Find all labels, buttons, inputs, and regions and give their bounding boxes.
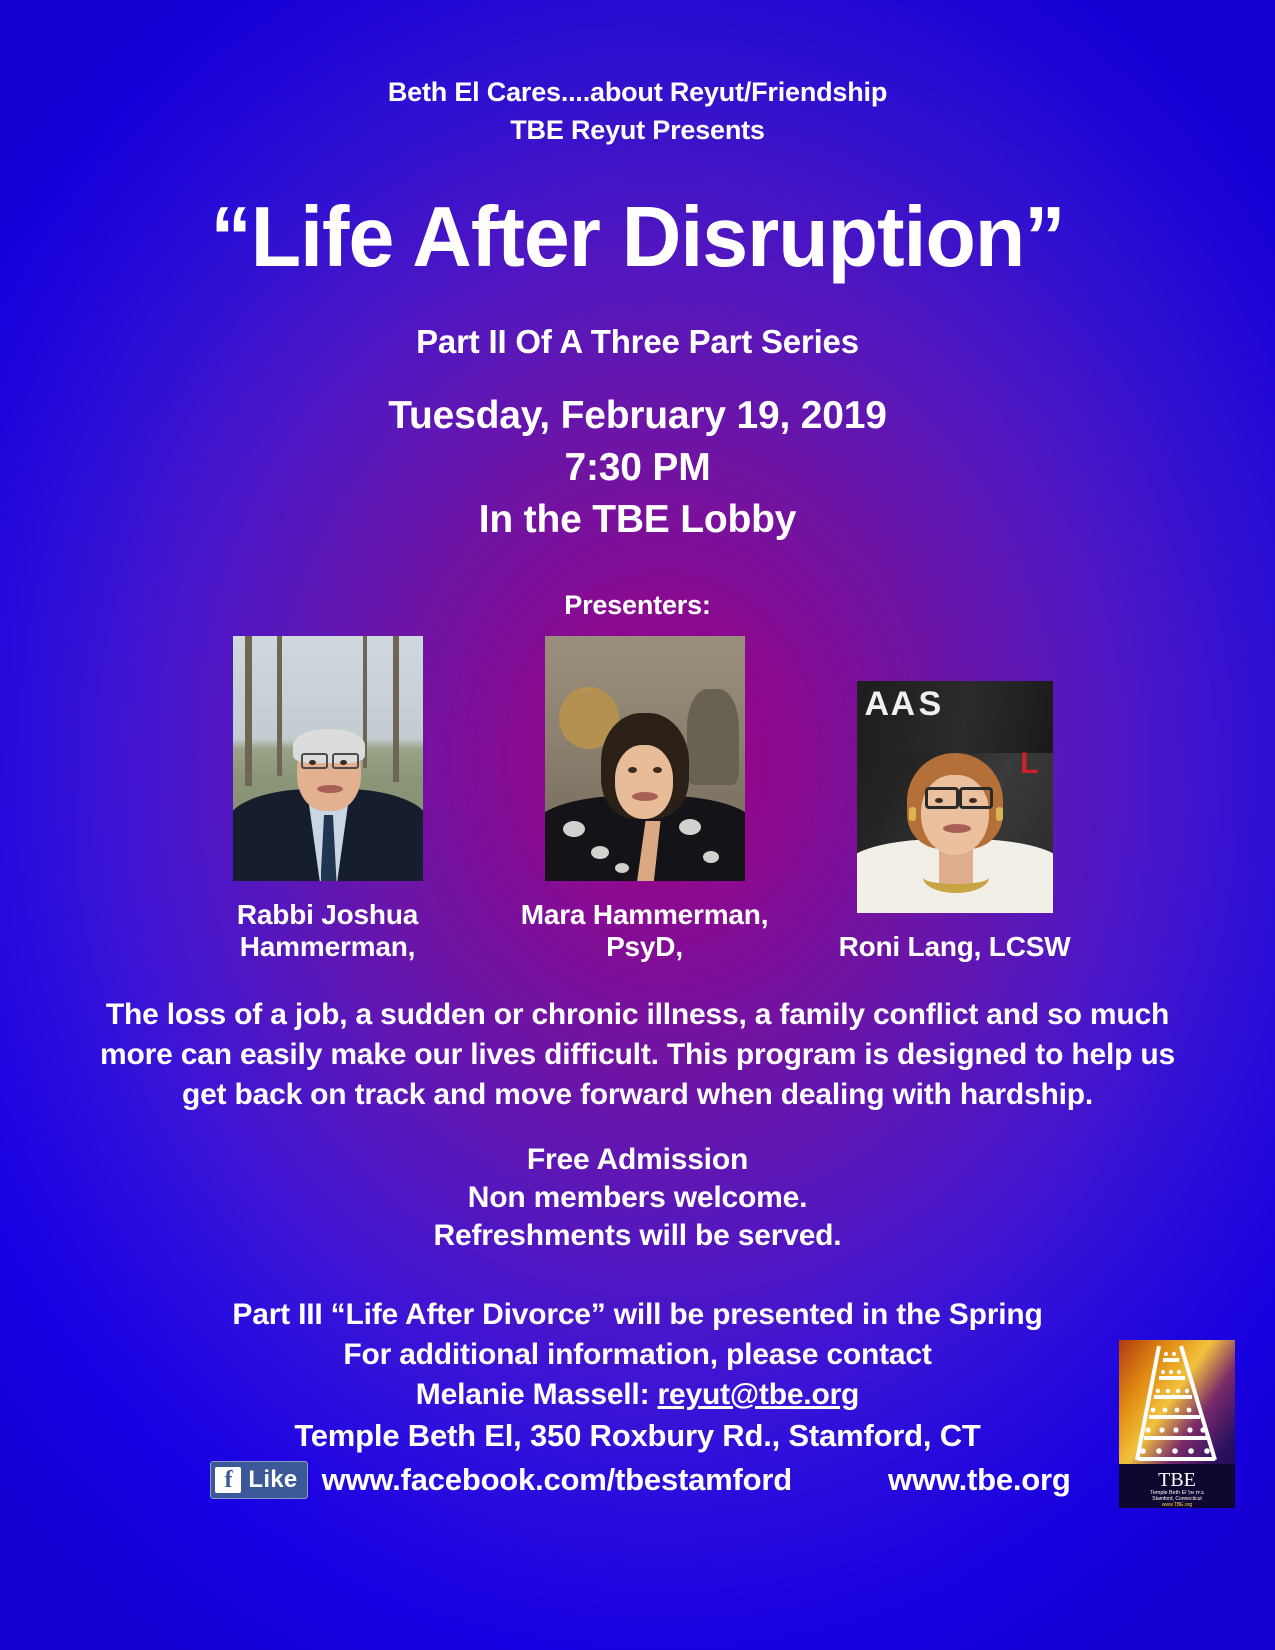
flyer-footer: Temple Beth El, 350 Roxbury Rd., Stamfor…	[0, 1416, 1275, 1500]
event-date: Tuesday, February 19, 2019	[0, 390, 1275, 442]
presenter-name-3: Roni Lang, LCSW	[839, 931, 1071, 963]
description-line-2: more can easily make our lives difficult…	[93, 1035, 1183, 1075]
description-line-1: The loss of a job, a sudden or chronic i…	[93, 995, 1183, 1035]
facebook-url[interactable]: www.facebook.com/tbestamford	[322, 1460, 792, 1500]
roni-lang-photo: A A S L	[857, 681, 1053, 913]
presenter-cell-2: Mara Hammerman, PsyD,	[480, 636, 810, 963]
presenter-cell-1: Rabbi Joshua Hammerman,	[176, 636, 480, 963]
presenter-name-1: Rabbi Joshua Hammerman,	[176, 899, 480, 963]
presenter-cell-3: A A S L Roni Lang, LC	[810, 681, 1100, 963]
tbe-logo-sub-1: Temple Beth El בית אל	[1150, 1489, 1204, 1496]
presenter-name-2: Mara Hammerman, PsyD,	[480, 899, 810, 963]
mara-hammerman-photo	[545, 636, 745, 881]
admission-block: Free Admission Non members welcome. Refr…	[0, 1141, 1275, 1255]
next-part-line-1: Part III “Life After Divorce” will be pr…	[0, 1295, 1275, 1335]
tbe-logo: TBE Temple Beth El בית אל Stamford, Conn…	[1119, 1340, 1235, 1508]
admission-non-members: Non members welcome.	[0, 1179, 1275, 1217]
next-part-block: Part III “Life After Divorce” will be pr…	[0, 1295, 1275, 1415]
website-url[interactable]: www.tbe.org	[888, 1460, 1071, 1500]
eyebrow-line-1: Beth El Cares....about Reyut/Friendship	[0, 74, 1275, 110]
page-title: “Life After Disruption”	[19, 190, 1256, 286]
contact-email-link[interactable]: reyut@tbe.org	[658, 1378, 860, 1411]
presenters-label: Presenters:	[0, 588, 1275, 622]
tbe-logo-wordmark: TBE	[1158, 1469, 1196, 1491]
facebook-like-label: Like	[248, 1460, 297, 1500]
admission-refreshments: Refreshments will be served.	[0, 1217, 1275, 1255]
contact-name: Melanie Massell:	[416, 1378, 658, 1411]
address-line: Temple Beth El, 350 Roxbury Rd., Stamfor…	[0, 1416, 1275, 1456]
contact-line: Melanie Massell: reyut@tbe.org	[0, 1375, 1275, 1415]
web-links-row: f Like www.facebook.com/tbestamford www.…	[0, 1460, 1275, 1500]
rabbi-joshua-hammerman-photo	[233, 636, 423, 881]
series-subtitle: Part II Of A Three Part Series	[0, 320, 1275, 364]
flyer-content: Beth El Cares....about Reyut/Friendship …	[0, 0, 1275, 1415]
event-location: In the TBE Lobby	[0, 494, 1275, 546]
facebook-like-badge[interactable]: f Like	[210, 1461, 307, 1499]
presenter-photo-row: Rabbi Joshua Hammerman,	[0, 636, 1275, 963]
event-time: 7:30 PM	[0, 442, 1275, 494]
description-line-3: get back on track and move forward when …	[93, 1075, 1183, 1115]
eyebrow-line-2: TBE Reyut Presents	[0, 112, 1275, 148]
description-block: The loss of a job, a sudden or chronic i…	[93, 995, 1183, 1115]
next-part-line-2: For additional information, please conta…	[0, 1335, 1275, 1375]
facebook-f-icon: f	[215, 1467, 241, 1493]
admission-free: Free Admission	[0, 1141, 1275, 1179]
flyer-poster: Beth El Cares....about Reyut/Friendship …	[0, 0, 1275, 1650]
tbe-logo-sub-3: www.TBE.org	[1162, 1502, 1193, 1508]
